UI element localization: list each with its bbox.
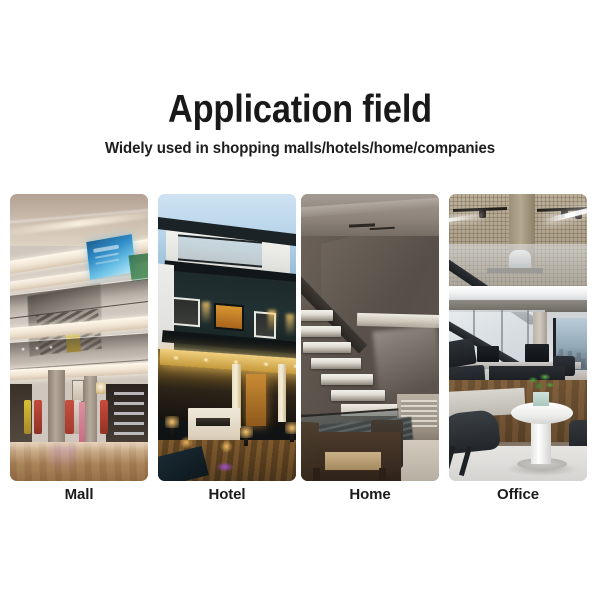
mall-clothing-display	[24, 400, 31, 434]
home-bench-legs	[313, 468, 320, 481]
hotel-purple-accent-light	[216, 462, 234, 472]
hotel-entrance-door	[246, 374, 266, 426]
mall-clothing-display	[100, 400, 108, 434]
office-lounge-chair	[449, 409, 501, 455]
home-stair-tread	[301, 326, 341, 337]
home-stair-tread	[303, 342, 351, 353]
page-title: Application field	[36, 88, 564, 132]
gallery-item-mall[interactable]: Mall	[10, 194, 148, 481]
home-stair-tread	[321, 374, 373, 385]
gallery-item-office[interactable]: Office	[449, 194, 587, 481]
hotel-bollard-light	[170, 420, 174, 436]
home-photo	[301, 194, 439, 481]
mall-wall-sign	[72, 380, 84, 402]
hotel-bollard-light	[244, 430, 248, 446]
mall-clothing-display	[34, 400, 42, 434]
mall-photo	[10, 194, 148, 481]
hotel-photo	[158, 194, 296, 481]
application-gallery: Mall	[0, 194, 600, 514]
home-bench-cushion	[325, 452, 381, 470]
gallery-item-hotel[interactable]: Hotel	[158, 194, 296, 481]
home-stair-tread	[311, 358, 361, 369]
hotel-window	[172, 297, 200, 327]
hotel-bollard-light	[290, 426, 294, 442]
mall-clothing-display	[65, 400, 74, 434]
mall-floor	[10, 442, 148, 481]
office-upper-desk	[487, 268, 543, 273]
office-photo	[449, 194, 587, 481]
mall-pillar	[48, 370, 65, 444]
mall-poster-stand	[79, 402, 85, 446]
home-stair-tread	[331, 390, 385, 401]
mall-pendant-lamp-icon	[96, 382, 105, 394]
office-monitor-icon	[525, 344, 549, 362]
home-stair-tread	[301, 310, 333, 321]
hotel-wall-light	[286, 314, 294, 336]
hotel-wall-light	[268, 310, 276, 332]
office-plant-pot	[533, 392, 549, 406]
home-floor-light-area	[397, 440, 439, 481]
page-subtitle: Widely used in shopping malls/hotels/hom…	[9, 138, 591, 160]
gallery-caption-office: Office	[429, 485, 600, 505]
mall-floor-reflection	[50, 446, 76, 472]
office-upper-chair	[509, 250, 531, 268]
gallery-item-home[interactable]: Home	[301, 194, 439, 481]
office-monitor-icon	[477, 346, 499, 362]
hotel-wall-light	[202, 302, 210, 324]
office-task-chair	[449, 338, 477, 369]
hotel-ground-light	[180, 436, 193, 449]
hotel-wall-recess	[196, 418, 230, 426]
hotel-lit-window	[214, 303, 244, 332]
hotel-column	[278, 364, 286, 422]
hotel-ground-light	[220, 440, 233, 453]
mall-shop-shelving	[114, 392, 144, 438]
